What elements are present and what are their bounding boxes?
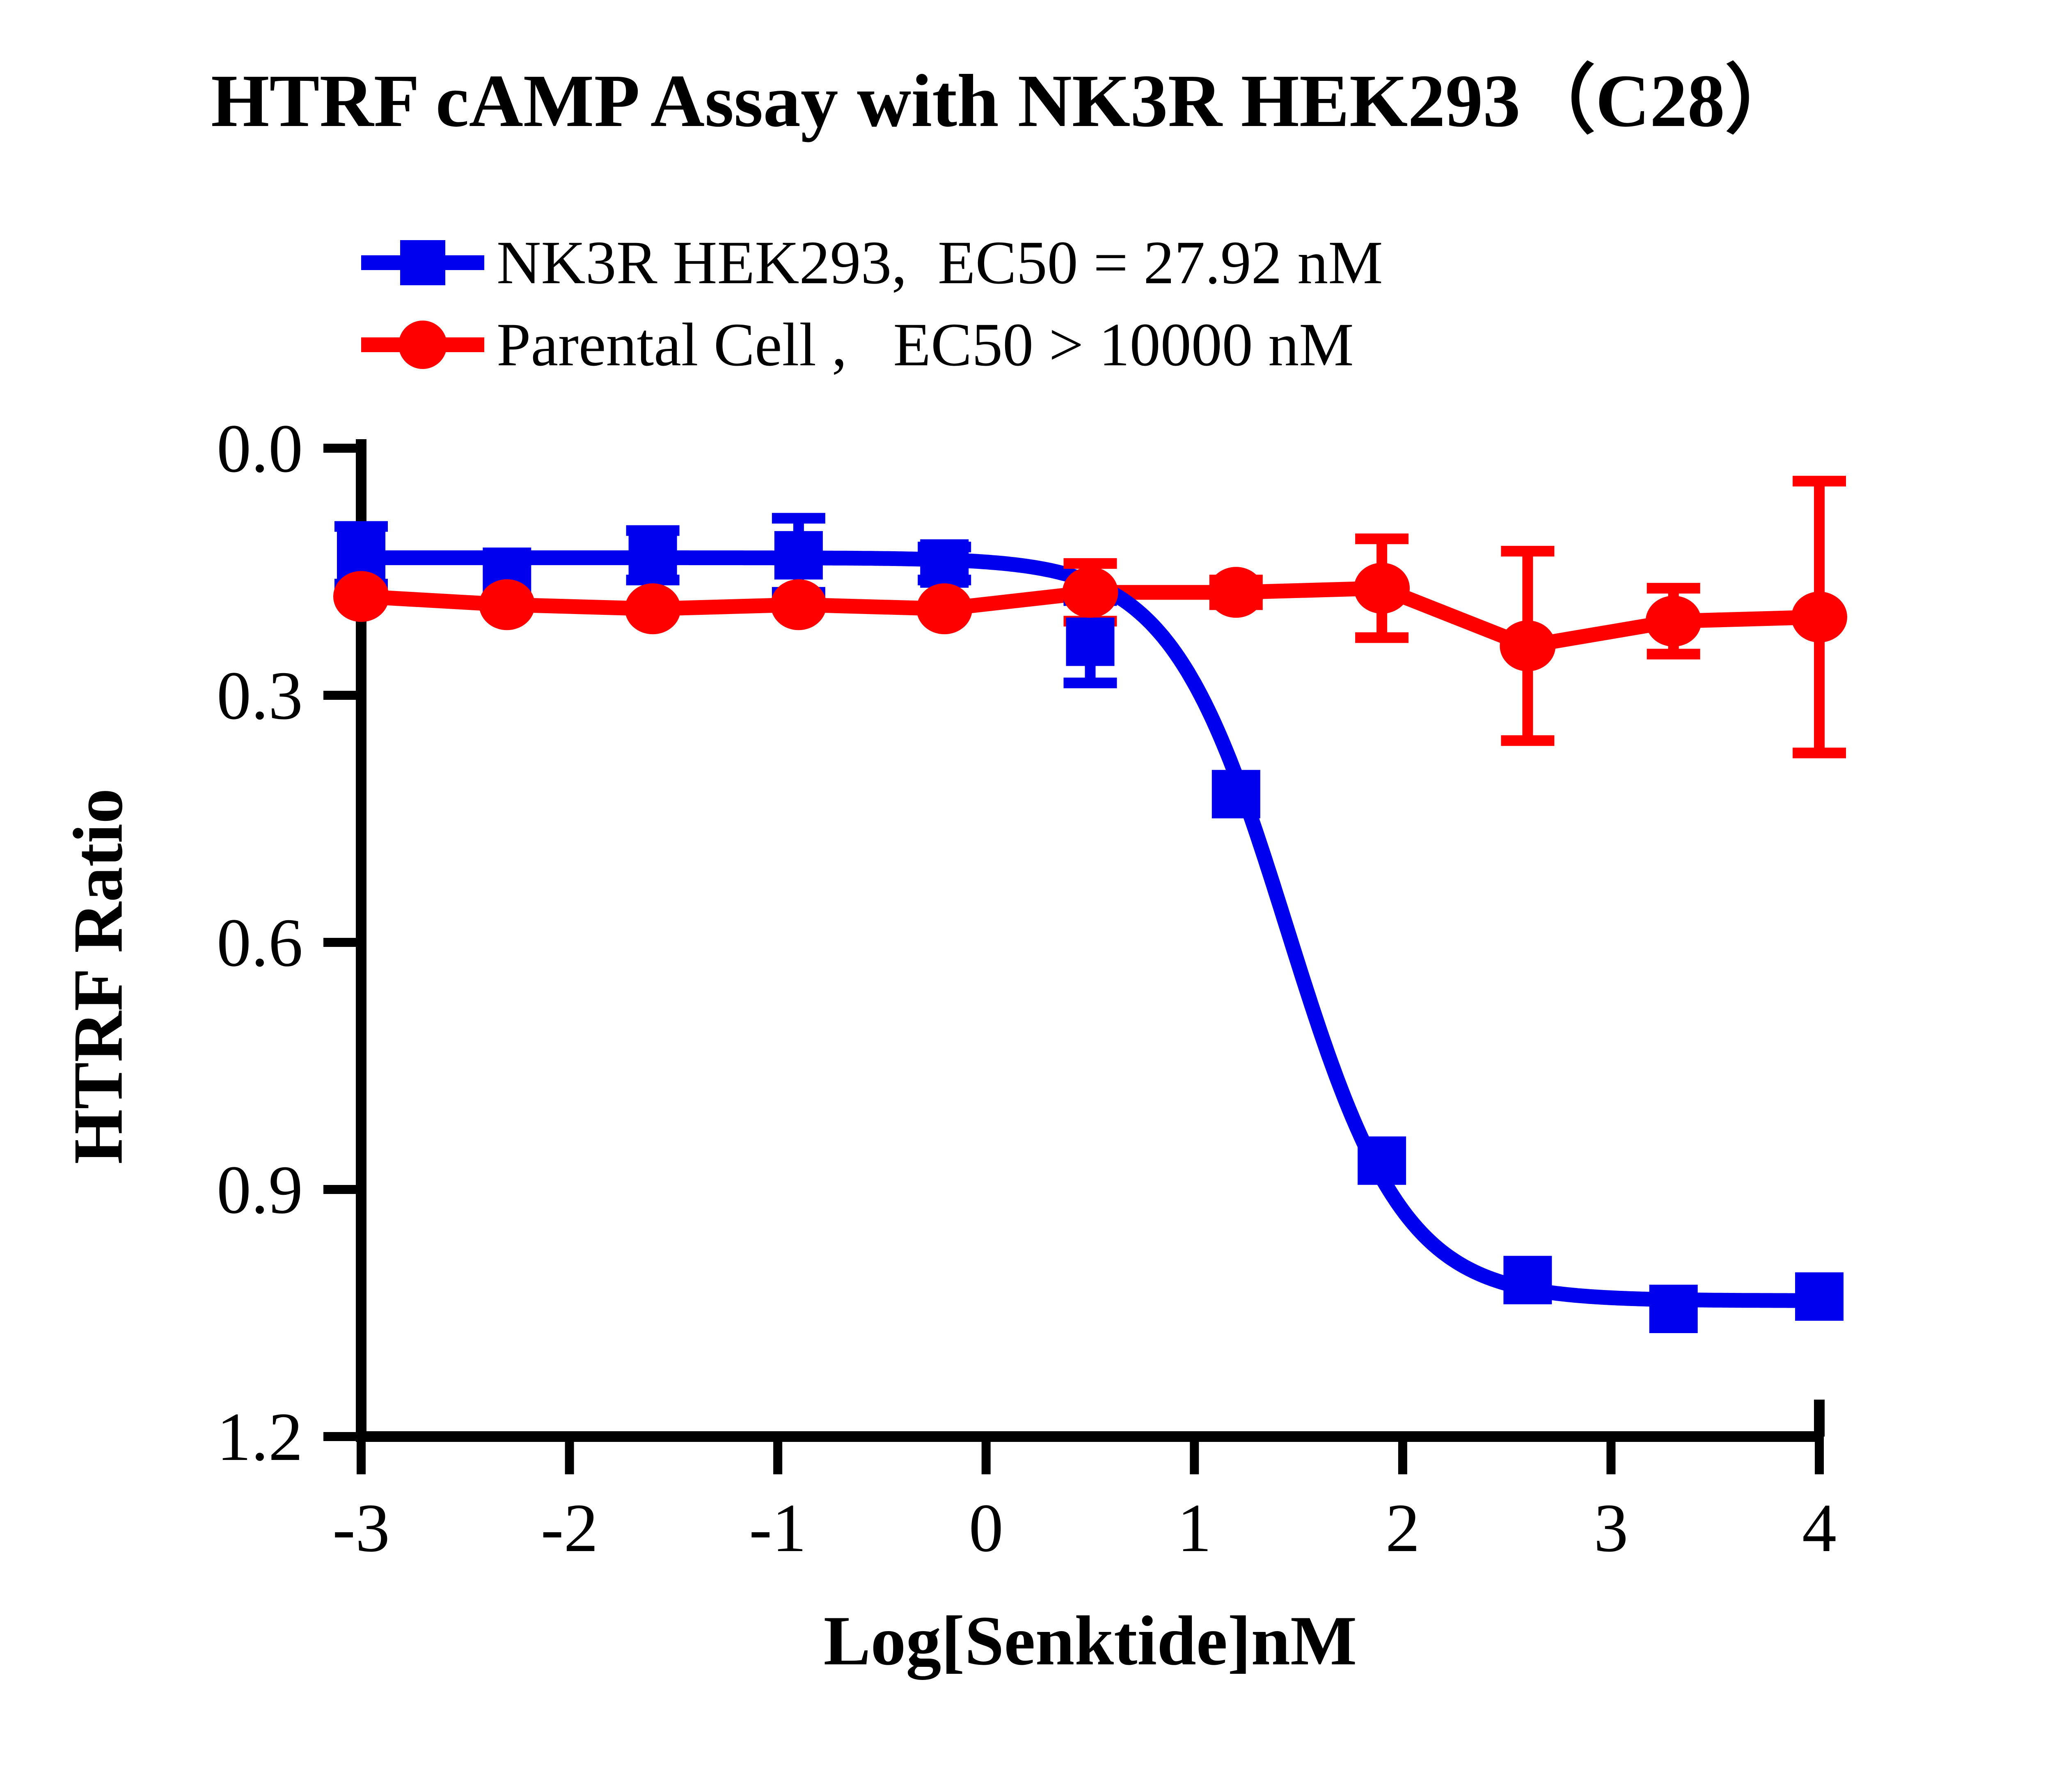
- y-tick-label-4: 0.3: [131, 656, 303, 736]
- y-tick-label-1: 1.2: [131, 1398, 303, 1477]
- nk3r-marker-5[interactable]: [1066, 618, 1115, 666]
- nk3r-marker-8[interactable]: [1503, 1256, 1552, 1304]
- y-tick-label-3: 0.6: [131, 903, 303, 983]
- nk3r-marker-4[interactable]: [920, 539, 969, 588]
- nk3r-marker-6[interactable]: [1212, 770, 1260, 818]
- parental-cell-marker-0[interactable]: [333, 571, 389, 622]
- y-axis-title: HTRF Ratio: [58, 628, 139, 1325]
- x-tick-label-8: 4: [1758, 1489, 1881, 1568]
- x-tick-label-7: 3: [1549, 1489, 1672, 1568]
- x-tick-label-4: 0: [925, 1489, 1048, 1568]
- x-axis-title: Log[Senktide]nM: [361, 1601, 1819, 1682]
- nk3r-marker-2[interactable]: [629, 531, 677, 580]
- nk3r-marker-3[interactable]: [774, 531, 823, 580]
- x-tick-label-1: -3: [300, 1489, 423, 1568]
- parental-cell-marker-2[interactable]: [625, 583, 681, 634]
- nk3r-marker-10[interactable]: [1795, 1272, 1844, 1321]
- parental-cell-marker-3[interactable]: [771, 579, 827, 630]
- x-tick-label-3: -1: [716, 1489, 839, 1568]
- parental-cell-marker-5[interactable]: [1063, 567, 1118, 618]
- x-tick-label-2: -2: [508, 1489, 631, 1568]
- y-tick-label-2: 0.9: [131, 1150, 303, 1230]
- nk3r-marker-9[interactable]: [1649, 1285, 1698, 1333]
- parental-cell-marker-9[interactable]: [1646, 596, 1702, 646]
- x-tick-label-5: 1: [1133, 1489, 1256, 1568]
- parental-cell-marker-4[interactable]: [916, 583, 972, 634]
- parental-cell-marker-7[interactable]: [1354, 563, 1410, 614]
- parental-cell-marker-10[interactable]: [1791, 591, 1847, 642]
- nk3r-marker-7[interactable]: [1358, 1137, 1406, 1185]
- y-tick-label-5: 0.0: [131, 409, 303, 488]
- x-tick-label-6: 2: [1341, 1489, 1464, 1568]
- parental-cell-marker-1[interactable]: [479, 579, 535, 630]
- parental-cell-marker-6[interactable]: [1208, 567, 1264, 618]
- parental-cell-marker-8[interactable]: [1500, 621, 1555, 671]
- figure-canvas: HTRF cAMP Assay with NK3R HEK293（C28） NK…: [0, 0, 2052, 1792]
